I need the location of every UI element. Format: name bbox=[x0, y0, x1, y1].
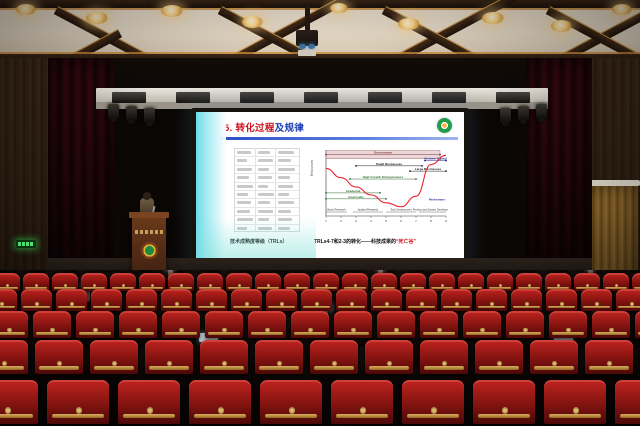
svg-text:6: 6 bbox=[400, 219, 402, 223]
theater-seat bbox=[475, 340, 523, 374]
svg-text:8: 8 bbox=[430, 219, 432, 223]
theater-seat bbox=[56, 289, 87, 311]
theater-seat bbox=[546, 289, 577, 311]
svg-text:Basic Research: Basic Research bbox=[327, 208, 346, 212]
theater-seat bbox=[91, 289, 122, 311]
theater-seat bbox=[0, 380, 38, 424]
ceiling-downlight bbox=[86, 12, 108, 24]
ceiling-downlight bbox=[482, 12, 504, 24]
theater-seat bbox=[35, 340, 83, 374]
theater-seat bbox=[162, 311, 200, 338]
theater-seat bbox=[301, 289, 332, 311]
theater-seat bbox=[119, 311, 157, 338]
theater-seat bbox=[544, 380, 606, 424]
svg-text:Applied Research: Applied Research bbox=[358, 208, 379, 212]
svg-text:1: 1 bbox=[325, 219, 327, 223]
svg-text:Tech Development: Tech Development bbox=[390, 208, 412, 212]
ceiling-downlight bbox=[398, 18, 420, 30]
speaker-podium bbox=[132, 216, 166, 278]
theater-seat bbox=[334, 311, 372, 338]
svg-text:Performers: Performers bbox=[429, 197, 446, 201]
exit-sign-icon bbox=[16, 240, 36, 248]
ceiling-downlight bbox=[242, 16, 263, 28]
theater-seat bbox=[420, 311, 458, 338]
theater-seat bbox=[47, 380, 109, 424]
theater-seat bbox=[90, 340, 138, 374]
podium-emblem-icon bbox=[141, 242, 158, 259]
svg-text:Product and System Development: Product and System Development bbox=[413, 208, 448, 212]
ceiling-downlight bbox=[612, 4, 632, 15]
theater-seat bbox=[615, 380, 640, 424]
theater-seat bbox=[0, 311, 28, 338]
ceiling-downlight bbox=[330, 3, 348, 13]
stage-light-fixture bbox=[112, 92, 146, 103]
svg-text:4: 4 bbox=[370, 219, 372, 223]
theater-seat bbox=[511, 289, 542, 311]
svg-text:9: 9 bbox=[445, 219, 447, 223]
theater-seat bbox=[0, 340, 28, 374]
theater-seat bbox=[530, 340, 578, 374]
audience-head bbox=[632, 346, 640, 369]
stage-light-fixture bbox=[240, 92, 274, 103]
theater-seat bbox=[371, 289, 402, 311]
theater-seat bbox=[635, 311, 640, 338]
slide-title-rule bbox=[220, 137, 458, 140]
theater-seat bbox=[0, 289, 17, 311]
theater-seat bbox=[255, 340, 303, 374]
ceiling-downlight bbox=[551, 20, 572, 32]
theater-seat bbox=[189, 380, 251, 424]
theater-seat bbox=[377, 311, 415, 338]
theater-seat bbox=[161, 289, 192, 311]
theater-seat bbox=[585, 340, 633, 374]
projection-screen: 5. 转化过程及规律 bbox=[196, 112, 464, 258]
stage-spotlight bbox=[108, 104, 119, 119]
slide-title: 5. 转化过程及规律 bbox=[224, 120, 304, 134]
coffered-ceiling bbox=[0, 0, 640, 62]
theater-seat bbox=[549, 311, 587, 338]
theater-seat bbox=[441, 289, 472, 311]
theater-seat bbox=[616, 289, 640, 311]
svg-text:2: 2 bbox=[340, 219, 342, 223]
theater-seat bbox=[473, 380, 535, 424]
theater-seat bbox=[336, 289, 367, 311]
theater-seat bbox=[248, 311, 286, 338]
theater-seat bbox=[402, 380, 464, 424]
institution-logo-icon bbox=[437, 118, 452, 133]
theater-seat bbox=[145, 340, 193, 374]
chart-svg: GovernmentVenture CapitalSmall Businesse… bbox=[312, 146, 448, 232]
screen-bottom-glow bbox=[196, 218, 316, 258]
stage-light-fixture bbox=[432, 92, 466, 103]
ceiling-projector bbox=[296, 6, 318, 52]
svg-text:Venture Capital: Venture Capital bbox=[424, 157, 447, 161]
ceiling-downlight bbox=[161, 5, 183, 17]
theater-seat bbox=[406, 289, 437, 311]
svg-text:Govt Labs: Govt Labs bbox=[348, 195, 363, 199]
stage-spotlight bbox=[144, 108, 155, 123]
theater-seat bbox=[581, 289, 612, 311]
theater-seat bbox=[592, 311, 630, 338]
stage-light-fixture bbox=[496, 92, 530, 103]
audience-seating bbox=[0, 270, 640, 426]
theater-seat bbox=[331, 380, 393, 424]
theater-seat bbox=[420, 340, 468, 374]
stage-spotlight bbox=[518, 106, 529, 121]
theater-seat bbox=[291, 311, 329, 338]
caption-right: TRLs4-7和2-3的转化——科技成果的“死亡谷” bbox=[314, 238, 416, 245]
theater-seat bbox=[76, 311, 114, 338]
theater-seat bbox=[21, 289, 52, 311]
stage-light-fixture bbox=[176, 92, 210, 103]
theater-seat bbox=[463, 311, 501, 338]
theater-seat bbox=[231, 289, 262, 311]
presenter-head bbox=[143, 192, 151, 200]
theater-seat bbox=[365, 340, 413, 374]
svg-text:5: 5 bbox=[385, 219, 387, 223]
svg-text:7: 7 bbox=[415, 219, 417, 223]
theater-seat bbox=[126, 289, 157, 311]
theater-seat bbox=[196, 289, 227, 311]
svg-text:High Growth Entrepreneurs: High Growth Entrepreneurs bbox=[363, 175, 404, 179]
theater-seat bbox=[205, 311, 243, 338]
valley-of-death-chart: Resources GovernmentVenture CapitalSmall… bbox=[312, 146, 448, 232]
svg-text:Small Businesses: Small Businesses bbox=[376, 162, 403, 166]
stage-light-fixture bbox=[368, 92, 402, 103]
theater-seat bbox=[118, 380, 180, 424]
stage-spotlight bbox=[500, 108, 511, 123]
stage-spotlight bbox=[126, 106, 137, 121]
svg-text:Academia: Academia bbox=[346, 189, 361, 193]
stage-spotlight bbox=[536, 104, 547, 119]
theater-seat bbox=[506, 311, 544, 338]
auditorium-photo: 5. 转化过程及规律 bbox=[0, 0, 640, 426]
theater-seat bbox=[260, 380, 322, 424]
theater-seat bbox=[33, 311, 71, 338]
theater-seat bbox=[310, 340, 358, 374]
ceiling-downlight bbox=[16, 4, 36, 15]
stage-light-fixture bbox=[304, 92, 338, 103]
theater-seat bbox=[266, 289, 297, 311]
svg-text:3: 3 bbox=[355, 219, 357, 223]
theater-seat bbox=[200, 340, 248, 374]
theater-seat bbox=[476, 289, 507, 311]
svg-text:Government: Government bbox=[374, 151, 392, 155]
